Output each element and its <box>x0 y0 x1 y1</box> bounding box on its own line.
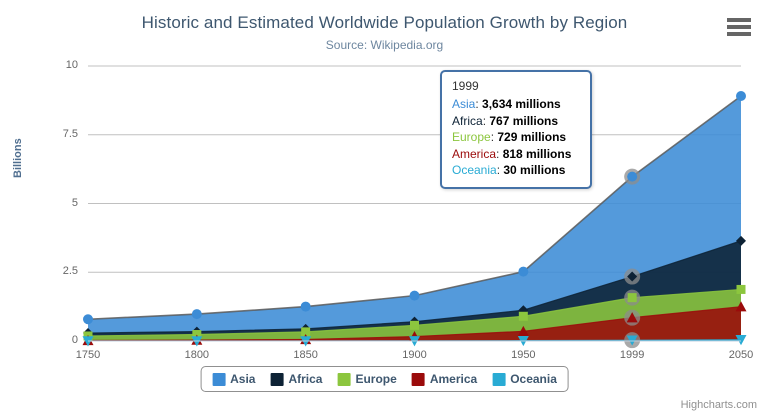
legend-item-label: Asia <box>230 372 255 386</box>
tooltip-rows: Asia: 3,634 millionsAfrica: 767 millions… <box>452 96 580 179</box>
legend-item-label: Africa <box>288 372 322 386</box>
y-tick-label: 7.5 <box>30 128 78 140</box>
tooltip-separator: : <box>475 97 482 111</box>
y-axis-title: Billions <box>12 138 24 178</box>
tooltip-series-value: 3,634 millions <box>482 97 561 111</box>
legend-swatch-icon <box>492 373 505 386</box>
tooltip-series-name: Europe <box>452 130 491 144</box>
tooltip-series-name: Oceania <box>452 163 497 177</box>
legend-swatch-icon <box>412 373 425 386</box>
tooltip-separator: : <box>496 147 503 161</box>
tooltip-series-name: Asia <box>452 97 475 111</box>
legend-item-asia[interactable]: Asia <box>212 372 255 386</box>
tooltip-series-name: America <box>452 147 496 161</box>
tooltip-row: Africa: 767 millions <box>452 113 580 130</box>
tooltip-series-value: 729 millions <box>497 130 566 144</box>
tooltip-row: Europe: 729 millions <box>452 129 580 146</box>
tooltip-header: 1999 <box>452 79 580 93</box>
tooltip: 1999 Asia: 3,634 millionsAfrica: 767 mil… <box>440 70 592 189</box>
legend-item-label: Europe <box>355 372 396 386</box>
x-tick-label: 1850 <box>276 349 336 361</box>
legend-item-europe[interactable]: Europe <box>337 372 396 386</box>
legend: AsiaAfricaEuropeAmericaOceania <box>200 366 569 392</box>
y-tick-label: 5 <box>30 197 78 209</box>
tooltip-row: America: 818 millions <box>452 146 580 163</box>
x-tick-label: 1999 <box>602 349 662 361</box>
legend-swatch-icon <box>212 373 225 386</box>
legend-item-africa[interactable]: Africa <box>270 372 322 386</box>
x-tick-label: 2050 <box>711 349 769 361</box>
x-tick-label: 1900 <box>385 349 445 361</box>
x-tick-label: 1750 <box>58 349 118 361</box>
x-tick-label: 1800 <box>167 349 227 361</box>
highcharts-container: Historic and Estimated Worldwide Populat… <box>0 0 769 416</box>
legend-swatch-icon <box>337 373 350 386</box>
credits-link[interactable]: Highcharts.com <box>681 399 757 411</box>
legend-item-america[interactable]: America <box>412 372 477 386</box>
y-tick-label: 0 <box>30 334 78 346</box>
tooltip-row: Asia: 3,634 millions <box>452 96 580 113</box>
tooltip-series-value: 818 millions <box>503 147 572 161</box>
tooltip-series-name: Africa <box>452 114 483 128</box>
x-tick-label: 1950 <box>493 349 553 361</box>
legend-item-label: Oceania <box>510 372 557 386</box>
legend-swatch-icon <box>270 373 283 386</box>
y-tick-label: 2.5 <box>30 265 78 277</box>
tooltip-row: Oceania: 30 millions <box>452 162 580 179</box>
legend-item-oceania[interactable]: Oceania <box>492 372 557 386</box>
y-tick-label: 10 <box>30 59 78 71</box>
tooltip-series-value: 767 millions <box>489 114 558 128</box>
tooltip-series-value: 30 millions <box>503 163 565 177</box>
series-areas <box>88 96 741 341</box>
legend-item-label: America <box>430 372 477 386</box>
